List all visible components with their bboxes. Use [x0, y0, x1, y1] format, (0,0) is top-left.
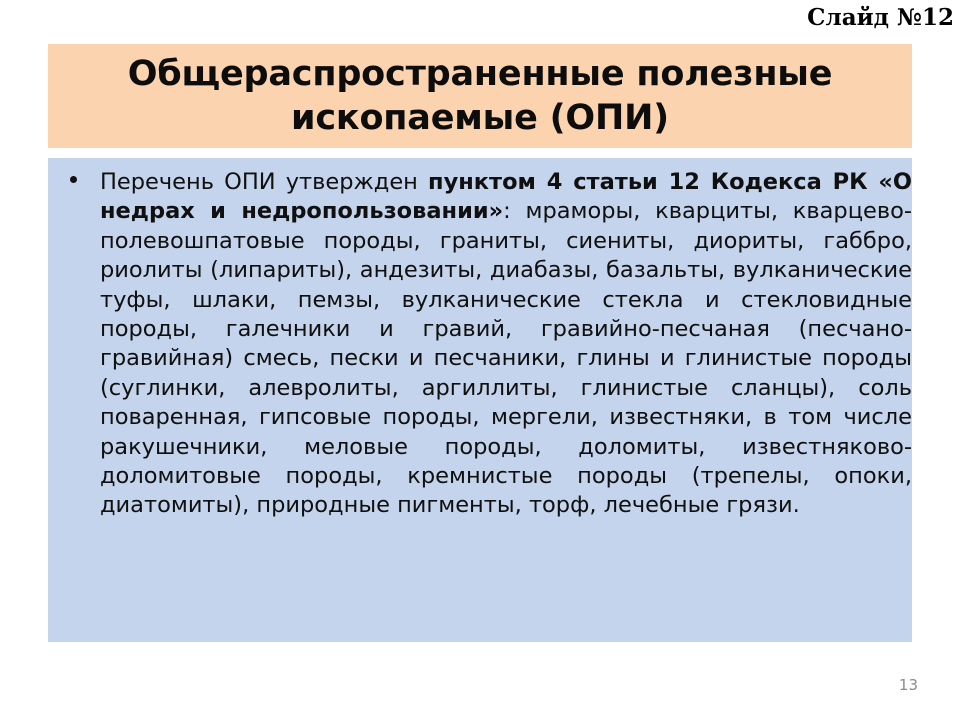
body-paragraph: Перечень ОПИ утвержден пунктом 4 статьи … — [100, 168, 912, 521]
slide-canvas: Слайд №12 Общераспространенные полезные … — [0, 0, 960, 720]
bullet-dot-icon — [70, 176, 77, 183]
body-text-run: : мраморы, кварциты, кварцево-полевошпат… — [100, 198, 912, 518]
footer-page-number: 13 — [899, 676, 918, 694]
title-band: Общераспространенные полезные ископаемые… — [48, 44, 912, 148]
content-box: Перечень ОПИ утвержден пунктом 4 статьи … — [48, 158, 912, 642]
page-title: Общераспространенные полезные ископаемые… — [100, 52, 860, 140]
bullet-list-item: Перечень ОПИ утвержден пунктом 4 статьи … — [56, 168, 904, 521]
slide-number-label: Слайд №12 — [807, 4, 954, 32]
body-text-run: Перечень ОПИ утвержден — [100, 169, 428, 195]
